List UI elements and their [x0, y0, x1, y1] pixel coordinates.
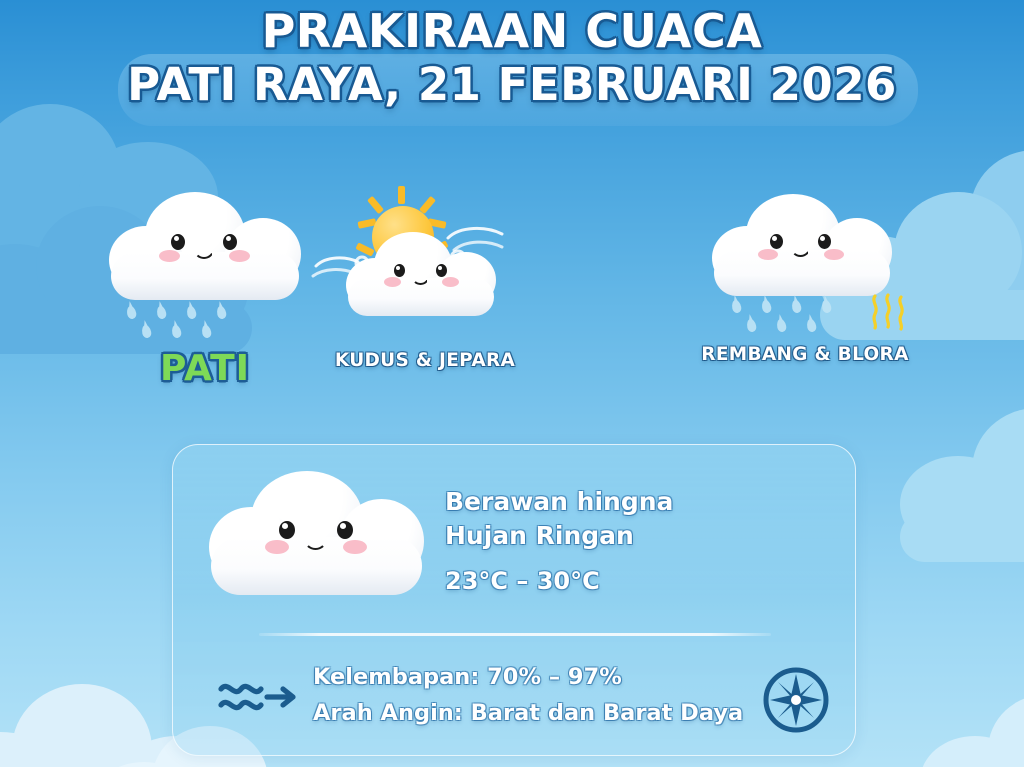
card-primary-section: Berawan hingna Hujan Ringan 23°C – 30°C: [173, 459, 857, 609]
raindrop: [821, 299, 833, 314]
condition-line-1: Berawan hingna: [445, 485, 673, 519]
raindrop: [746, 318, 758, 333]
page-title: PRAKIRAAN CUACA PATI RAYA, 21 FEBRUARI 2…: [0, 4, 1024, 112]
city-label-rembang-blora: REMBANG & BLORA: [680, 344, 930, 365]
card-secondary-section: Kelembapan: 70% – 97% Arah Angin: Barat …: [173, 653, 857, 749]
card-divider: [259, 633, 771, 636]
raindrop: [731, 299, 743, 314]
wind-direction-value: Arah Angin: Barat dan Barat Daya: [313, 695, 743, 731]
city-item-rembang-blora[interactable]: REMBANG & BLORA: [680, 180, 930, 365]
wind-arrow-icon: [217, 675, 303, 719]
city-label-kudus-jepara: KUDUS & JEPARA: [310, 350, 540, 371]
heat-squiggle-icon: [868, 292, 914, 332]
city-forecast-row: PATI: [0, 180, 1024, 380]
raindrop: [761, 299, 773, 314]
raindrop: [141, 324, 153, 339]
bg-cloud-right-mid: [900, 400, 1024, 550]
raindrop: [156, 305, 168, 320]
raindrop: [216, 305, 228, 320]
title-line-2: PATI RAYA, 21 FEBRUARI 2026: [0, 58, 1024, 112]
header: PRAKIRAAN CUACA PATI RAYA, 21 FEBRUARI 2…: [0, 0, 1024, 132]
title-line-1: PRAKIRAAN CUACA: [0, 4, 1024, 58]
cloud-face-icon: [209, 471, 424, 601]
raindrop: [126, 305, 138, 320]
temperature-range: 23°C – 30°C: [445, 565, 673, 597]
raindrop: [186, 305, 198, 320]
sun-cloud-wind-icon: [310, 192, 540, 322]
humidity-value: Kelembapan: 70% – 97%: [313, 659, 743, 695]
raindrop: [806, 318, 818, 333]
city-item-pati[interactable]: PATI: [95, 180, 315, 389]
city-item-kudus-jepara[interactable]: KUDUS & JEPARA: [310, 192, 540, 371]
rain-cloud-icon: [95, 180, 315, 330]
compass-rose-icon: [761, 665, 831, 735]
condition-line-2: Hujan Ringan: [445, 519, 673, 553]
city-label-pati: PATI: [95, 348, 315, 389]
raindrop: [171, 324, 183, 339]
bg-cloud-right-lower: [920, 690, 1024, 767]
forecast-detail-card: Berawan hingna Hujan Ringan 23°C – 30°C …: [172, 444, 856, 756]
detail-text-block: Kelembapan: 70% – 97% Arah Angin: Barat …: [313, 659, 743, 731]
raindrop: [776, 318, 788, 333]
rain-cloud-heat-icon: [680, 180, 930, 330]
raindrop: [791, 299, 803, 314]
raindrop: [201, 324, 213, 339]
condition-text-block: Berawan hingna Hujan Ringan 23°C – 30°C: [445, 485, 673, 597]
